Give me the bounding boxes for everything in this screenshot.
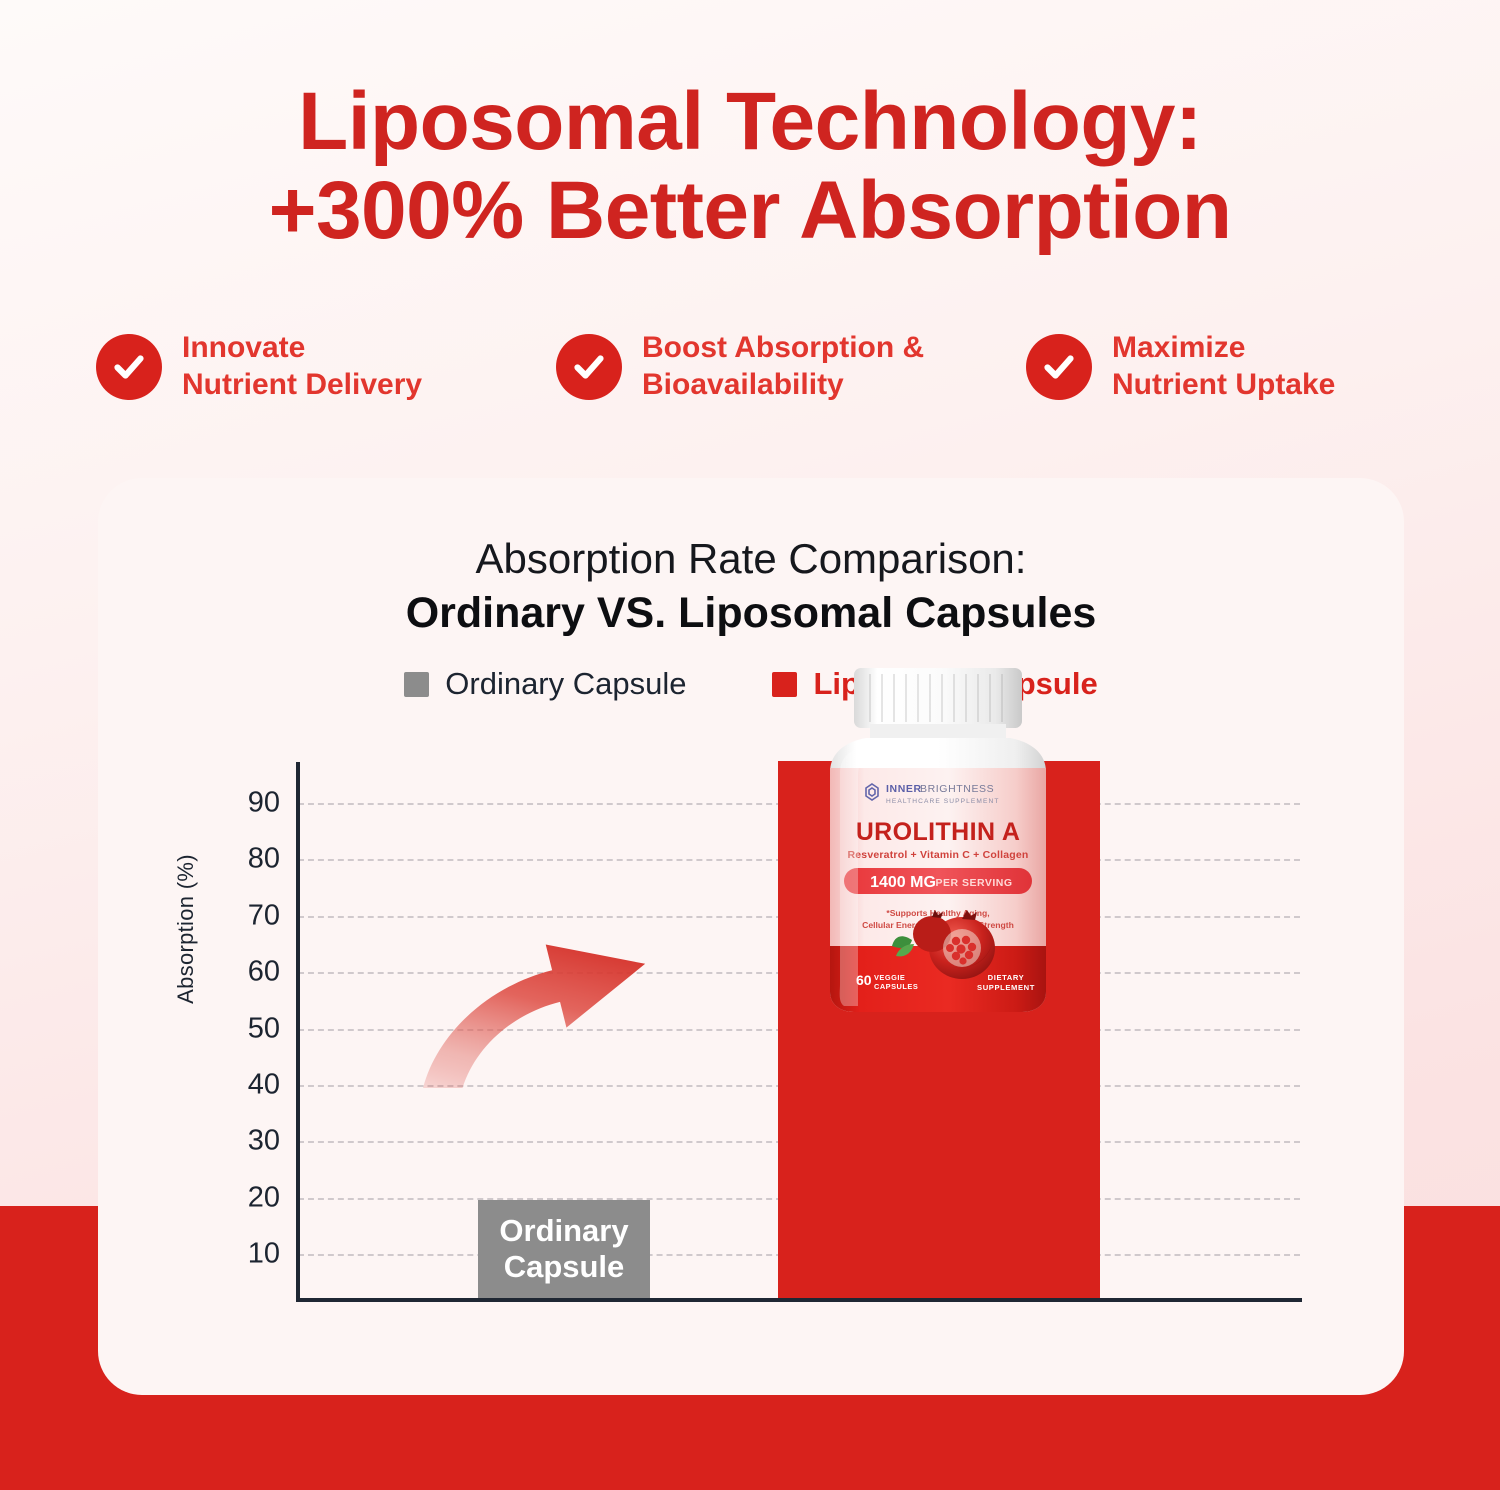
svg-text:Resveratrol + Vitamin C + Coll: Resveratrol + Vitamin C + Collagen: [847, 849, 1028, 861]
feature-item-boost-absorption: Boost Absorption & Bioavailability: [556, 330, 996, 403]
headline-percent: +300%: [269, 165, 524, 256]
feature-label: Maximize Nutrient Uptake: [1112, 330, 1335, 403]
bar-label-line-1: Ordinary: [499, 1213, 628, 1248]
product-bottle-image: INNER BRIGHTNESS HEALTHCARE SUPPLEMENT U…: [778, 662, 1100, 1015]
svg-text:PER SERVING: PER SERVING: [935, 877, 1012, 889]
headline-line-1: Liposomal Technology:: [298, 76, 1202, 167]
feature-label: Innovate Nutrient Delivery: [182, 330, 422, 403]
chart-card: Absorption Rate Comparison: Ordinary VS.…: [98, 478, 1404, 1395]
svg-text:INNER: INNER: [886, 783, 922, 795]
svg-text:1400 MG: 1400 MG: [870, 874, 936, 891]
check-icon: [96, 334, 162, 400]
svg-text:CAPSULES: CAPSULES: [874, 982, 918, 991]
y-tick-label: 40: [218, 1069, 280, 1102]
bar-label-ordinary: Ordinary Capsule: [499, 1213, 628, 1284]
check-icon: [1026, 334, 1092, 400]
svg-text:BRIGHTNESS: BRIGHTNESS: [920, 783, 994, 795]
chart-plot-area: Absorption (%) 10 20 30 40 50 60 70 80 9…: [98, 478, 1404, 1395]
y-tick-label: 80: [218, 843, 280, 876]
feature-line-1: Maximize: [1112, 331, 1245, 364]
page-title: Liposomal Technology: +300% Better Absor…: [0, 78, 1500, 255]
y-tick-label: 30: [218, 1125, 280, 1158]
y-tick-label: 10: [218, 1238, 280, 1271]
headline-line-2: +300% Better Absorption: [0, 167, 1500, 256]
feature-item-maximize-uptake: Maximize Nutrient Uptake: [1026, 330, 1426, 403]
y-axis-title: Absorption (%): [173, 829, 199, 1029]
y-tick-label: 90: [218, 787, 280, 820]
svg-text:VEGGIE: VEGGIE: [874, 973, 905, 982]
svg-text:SUPPLEMENT: SUPPLEMENT: [977, 983, 1035, 992]
feature-line-1: Innovate: [182, 331, 305, 364]
svg-text:DIETARY: DIETARY: [988, 973, 1025, 982]
feature-line-1: Boost Absorption &: [642, 331, 924, 364]
y-tick-label: 70: [218, 900, 280, 933]
growth-arrow-icon: [388, 908, 698, 1088]
bar-label-line-2: Capsule: [499, 1249, 628, 1285]
feature-label: Boost Absorption & Bioavailability: [642, 330, 924, 403]
y-tick-label: 20: [218, 1182, 280, 1215]
y-tick-label: 60: [218, 956, 280, 989]
y-axis-line: [296, 762, 300, 1302]
feature-item-innovate: Innovate Nutrient Delivery: [96, 330, 526, 403]
svg-text:UROLITHIN A: UROLITHIN A: [856, 818, 1021, 846]
feature-line-2: Nutrient Delivery: [182, 367, 422, 404]
svg-text:60: 60: [856, 972, 872, 988]
feature-list: Innovate Nutrient Delivery Boost Absorpt…: [96, 330, 1426, 403]
feature-line-2: Bioavailability: [642, 367, 924, 404]
feature-line-2: Nutrient Uptake: [1112, 367, 1335, 404]
check-icon: [556, 334, 622, 400]
svg-text:HEALTHCARE SUPPLEMENT: HEALTHCARE SUPPLEMENT: [886, 798, 999, 805]
x-axis-line: [296, 1298, 1302, 1302]
headline-line-2-rest: Better Absorption: [524, 165, 1232, 256]
y-tick-label: 50: [218, 1013, 280, 1046]
bar-ordinary-capsule: Ordinary Capsule: [478, 1200, 650, 1298]
